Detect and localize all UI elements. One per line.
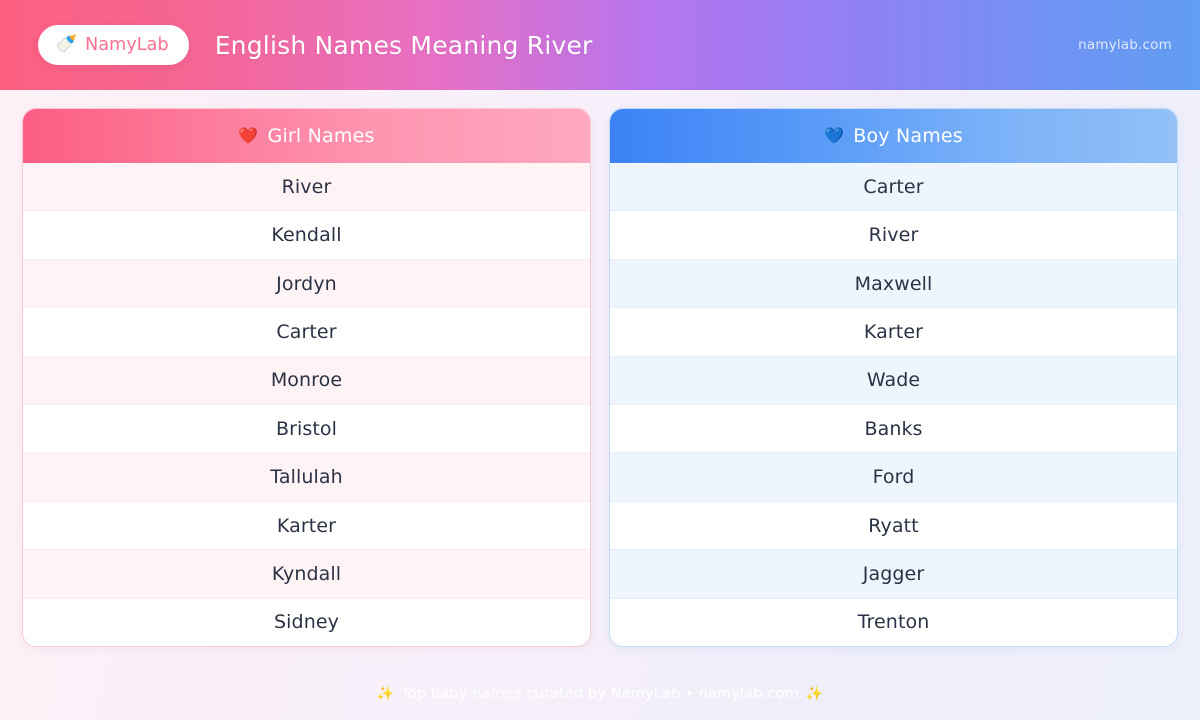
list-item[interactable]: Wade [610, 356, 1177, 404]
names-columns: ❤️ Girl Names River Kendall Jordyn Carte… [0, 90, 1200, 667]
sparkles-icon-left: ✨ [377, 687, 395, 701]
list-item[interactable]: Tallulah [23, 452, 590, 500]
page-footer: ✨ Top baby names curated by NamyLab • na… [0, 667, 1200, 720]
list-item[interactable]: Banks [610, 404, 1177, 452]
logo-badge[interactable]: 🍼 NamyLab [38, 25, 189, 65]
list-item[interactable]: Carter [610, 163, 1177, 210]
list-item[interactable]: Karter [23, 501, 590, 549]
list-item[interactable]: River [610, 210, 1177, 258]
list-item[interactable]: Bristol [23, 404, 590, 452]
boy-card-header: 💙 Boy Names [610, 109, 1177, 163]
boy-name-list: Carter River Maxwell Karter Wade Banks F… [610, 163, 1177, 646]
list-item[interactable]: Maxwell [610, 259, 1177, 307]
girl-card-title: Girl Names [268, 125, 375, 147]
page-header: 🍼 NamyLab English Names Meaning River na… [0, 0, 1200, 90]
list-item[interactable]: Kyndall [23, 549, 590, 597]
list-item[interactable]: River [23, 163, 590, 210]
sparkles-icon-right: ✨ [806, 687, 824, 701]
list-item[interactable]: Karter [610, 307, 1177, 355]
list-item[interactable]: Kendall [23, 210, 590, 258]
baby-bottle-icon: 🍼 [56, 36, 77, 53]
blue-heart-icon: 💙 [824, 128, 844, 144]
red-heart-icon: ❤️ [238, 128, 258, 144]
site-url-label: namylab.com [1078, 37, 1172, 53]
list-item[interactable]: Carter [23, 307, 590, 355]
girl-name-list: River Kendall Jordyn Carter Monroe Brist… [23, 163, 590, 646]
boy-card-title: Boy Names [853, 125, 963, 147]
footer-text: Top baby names curated by NamyLab • namy… [401, 686, 799, 702]
list-item[interactable]: Sidney [23, 598, 590, 646]
list-item[interactable]: Ford [610, 452, 1177, 500]
list-item[interactable]: Trenton [610, 598, 1177, 646]
list-item[interactable]: Ryatt [610, 501, 1177, 549]
girl-names-card: ❤️ Girl Names River Kendall Jordyn Carte… [22, 108, 591, 647]
list-item[interactable]: Monroe [23, 356, 590, 404]
boy-names-card: 💙 Boy Names Carter River Maxwell Karter … [609, 108, 1178, 647]
page-title: English Names Meaning River [215, 31, 593, 60]
girl-card-header: ❤️ Girl Names [23, 109, 590, 163]
logo-text: NamyLab [85, 35, 169, 55]
list-item[interactable]: Jagger [610, 549, 1177, 597]
list-item[interactable]: Jordyn [23, 259, 590, 307]
